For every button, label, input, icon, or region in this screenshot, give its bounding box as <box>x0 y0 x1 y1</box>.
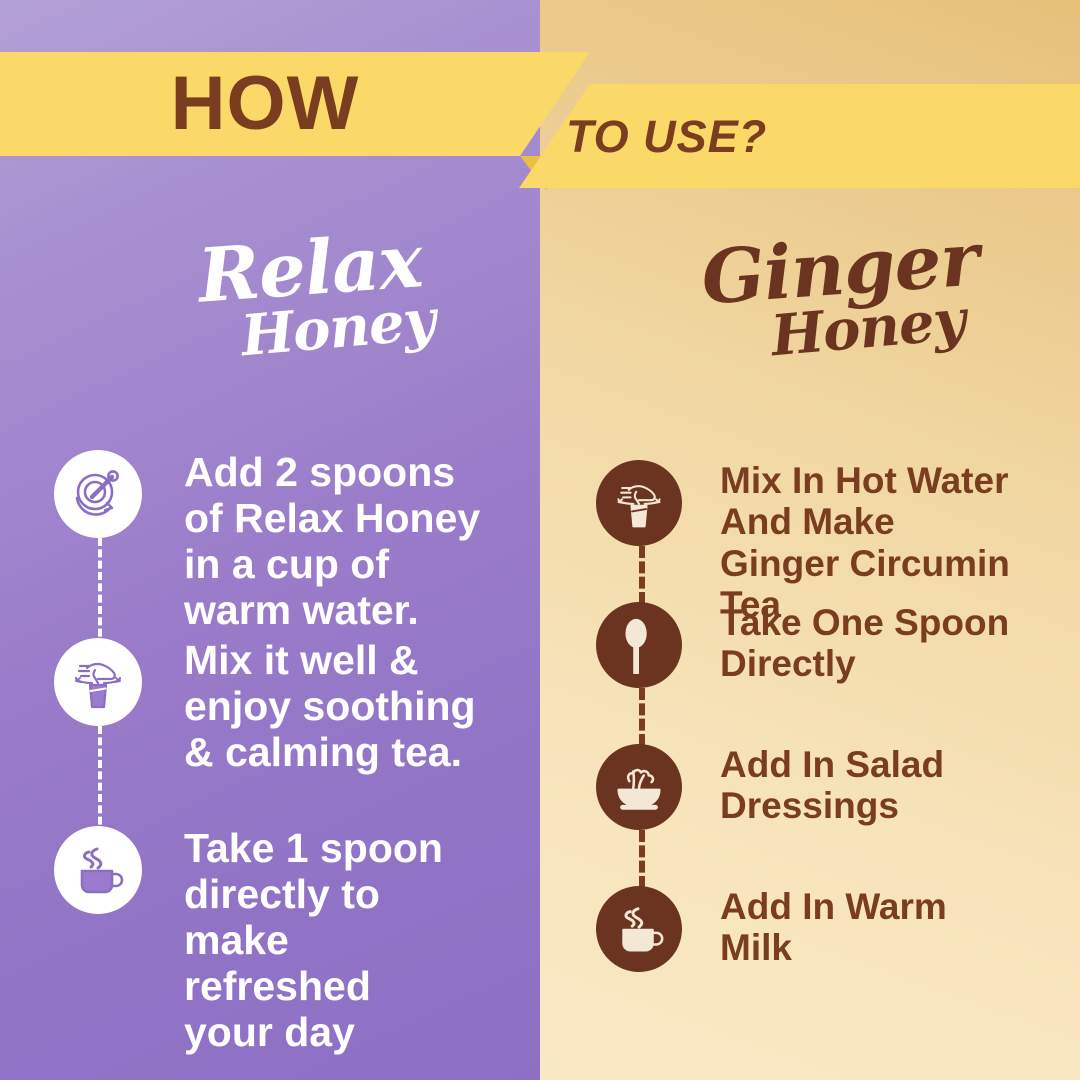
step-label: Add In Warm Milk <box>720 886 947 969</box>
list-item: Add In Salad Dressings <box>580 744 1070 886</box>
salad-bowl-icon <box>596 744 682 830</box>
infographic-poster: HOW TO USE? Relax Honey Ginger Honey <box>0 0 1080 1080</box>
step-label: Add In Salad Dressings <box>720 744 944 827</box>
list-item: Mix In Hot Water And Make Ginger Circumi… <box>580 460 1070 602</box>
spoon-icon <box>596 602 682 688</box>
page-title-primary: HOW <box>0 52 530 156</box>
step-label: Take One Spoon Directly <box>720 602 1009 685</box>
relax-honey-step-list: Add 2 spoons of Relax Honey in a cup of … <box>40 450 520 1014</box>
step-label: Add 2 spoons of Relax Honey in a cup of … <box>184 450 480 634</box>
step-connector-line <box>98 726 102 836</box>
step-label: Mix it well & enjoy soothing & calming t… <box>184 638 476 776</box>
steaming-cup-icon <box>596 886 682 972</box>
step-connector-line <box>98 538 102 648</box>
list-item: Take One Spoon Directly <box>580 602 1070 744</box>
list-item: Take 1 spoon directly to make refreshed … <box>40 826 520 1014</box>
step-label: Take 1 spoon directly to make refreshed … <box>184 826 443 1056</box>
list-item: Add In Warm Milk <box>580 886 1070 1028</box>
list-item: Mix it well & enjoy soothing & calming t… <box>40 638 520 826</box>
ginger-honey-step-list: Mix In Hot Water And Make Ginger Circumi… <box>580 460 1070 1028</box>
brand-logo-relax-honey: Relax Honey <box>150 232 470 356</box>
steaming-mug-icon <box>54 826 142 914</box>
step-label: Mix In Hot Water And Make Ginger Circumi… <box>720 460 1010 626</box>
bowl-spoon-stir-icon <box>54 450 142 538</box>
step-connector-line <box>639 688 645 746</box>
list-item: Add 2 spoons of Relax Honey in a cup of … <box>40 450 520 638</box>
step-connector-line <box>639 546 645 604</box>
hand-pour-glass-icon <box>596 460 682 546</box>
page-title-secondary: TO USE? <box>566 84 767 188</box>
step-connector-line <box>639 830 645 888</box>
brand-logo-ginger-honey: Ginger Honey <box>690 232 990 356</box>
hand-pour-glass-icon <box>54 638 142 726</box>
